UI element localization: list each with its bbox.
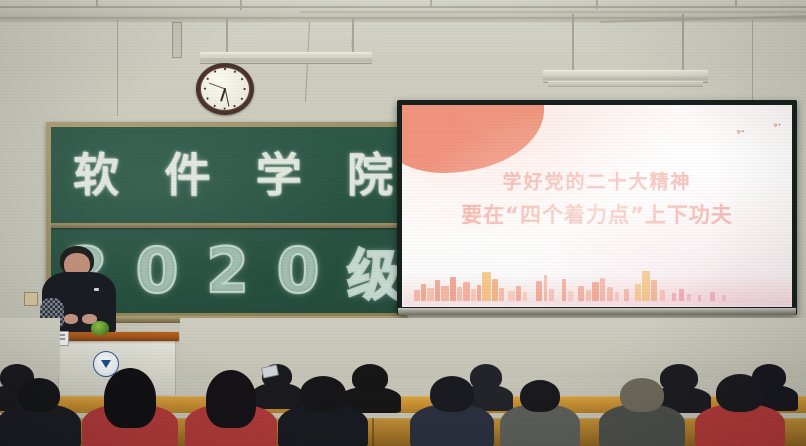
audience-head (104, 368, 156, 428)
clock-tick (244, 88, 246, 90)
audience-head (716, 374, 764, 412)
projector-screen-base-rail (398, 308, 796, 315)
skyline-building (592, 282, 599, 301)
audience-head (470, 364, 502, 390)
audience-head (206, 370, 256, 428)
skyline-building (536, 281, 542, 301)
skyline-building (463, 282, 470, 301)
skyline-building (482, 272, 491, 301)
clock-tick (207, 78, 209, 80)
ceiling-light-right-lower (548, 81, 703, 87)
projected-slide: ➳ ➳ 学好党的二十大精神 要在“四个着力点”上下功夫 (402, 105, 792, 307)
wall-seam-left (117, 20, 118, 116)
audience-head (660, 364, 698, 392)
clock-minute-hand (224, 89, 229, 107)
audience-head (300, 376, 346, 412)
skyline-building (508, 291, 515, 301)
clock-tick (224, 108, 226, 110)
ceiling-light-wire-right-2 (682, 14, 684, 71)
audience-head-with-cap (620, 378, 664, 412)
bird-icon: ➳ (735, 126, 746, 138)
bench-divider (372, 418, 374, 446)
ceiling-beam-vertical-3 (430, 0, 432, 8)
skyline-building (450, 277, 456, 301)
audience-head (430, 376, 474, 412)
ceiling-beam-vertical-5 (735, 0, 737, 8)
wall-power-socket (24, 292, 38, 306)
clock-tick (214, 71, 216, 73)
classroom-photo-scene: 软 件 学 院 2 0 2 0 级 ➳ ➳ 学好党的二十大精神 要在“四个着 (0, 0, 806, 446)
ceiling-beam-horizontal-1 (0, 6, 806, 8)
skyline-building (687, 294, 691, 301)
clock-tick (234, 105, 236, 107)
skyline-building (477, 285, 481, 301)
projector-screen: ➳ ➳ 学好党的二十大精神 要在“四个着力点”上下功夫 (397, 100, 797, 315)
skyline-building (549, 289, 554, 301)
clock-tick (207, 98, 209, 100)
slide-headline-line-2: 要在“四个着力点”上下功夫 (402, 199, 792, 229)
ceiling-light-wire-right (572, 14, 574, 71)
skyline-building (635, 284, 641, 301)
skyline-building (578, 286, 584, 301)
skyline-building (568, 291, 573, 301)
skyline-building (562, 279, 566, 301)
wall-vent-plate (172, 22, 182, 58)
chalk-char: 院 (347, 139, 393, 205)
skyline-building (492, 279, 498, 301)
ceiling-beam-vertical-4 (596, 0, 598, 9)
skyline-building (624, 289, 629, 301)
skyline-building (435, 280, 440, 301)
slide-skyline-graphic (402, 261, 792, 307)
chalk-char: 学 (256, 139, 302, 205)
skyline-building (544, 275, 547, 301)
clock-tick (241, 98, 243, 100)
skyline-building (698, 295, 701, 301)
ceiling-light-wire-left (226, 18, 228, 52)
skyline-building (722, 295, 726, 301)
skyline-building (441, 286, 449, 301)
wall-clock (196, 63, 254, 115)
chalk-char: 2 (206, 234, 249, 307)
lectern-desktop (53, 332, 179, 341)
chalk-char: 0 (277, 234, 320, 307)
skyline-building (710, 292, 715, 301)
skyline-building (499, 288, 504, 301)
skyline-building (642, 271, 650, 301)
desk-plant-decor (91, 321, 109, 335)
clock-tick (204, 88, 206, 90)
bird-icon: ➳ (772, 120, 782, 131)
audience-head (18, 378, 60, 412)
skyline-building (660, 290, 665, 301)
chalk-char: 级 (347, 231, 401, 310)
clock-face (200, 67, 250, 111)
skyline-building (471, 289, 476, 301)
skyline-building (672, 293, 676, 301)
skyline-building (600, 278, 605, 301)
skyline-building (679, 289, 684, 301)
clock-tick (241, 78, 243, 80)
skyline-building (586, 290, 591, 301)
skyline-building (457, 287, 462, 301)
clock-tick (234, 71, 236, 73)
skyline-building (414, 290, 420, 301)
skyline-building (421, 284, 426, 301)
chalk-char: 件 (164, 139, 210, 205)
clock-second-hand (209, 83, 225, 90)
skyline-building (523, 292, 527, 301)
ceiling-beam-vertical-1 (96, 0, 98, 8)
skyline-building (427, 288, 434, 301)
audience-head (520, 380, 560, 412)
skyline-building (615, 292, 619, 301)
clock-tick (214, 105, 216, 107)
skyline-building (607, 287, 613, 301)
clock-tick (224, 68, 226, 70)
skyline-building (651, 280, 657, 301)
audience-head (352, 364, 388, 392)
presenter-hand-left (64, 314, 78, 324)
ceiling-beam-vertical-2 (240, 0, 242, 10)
skyline-building (516, 286, 521, 301)
presenter-badge-icon (94, 288, 99, 291)
ceiling-beam-horizontal-3 (300, 11, 806, 13)
slide-headline-line-1: 学好党的二十大精神 (402, 167, 792, 194)
ceiling-light-wire-left-2 (352, 18, 354, 52)
audience-area (0, 360, 806, 446)
blackboard-line-1: 软 件 学 院 (73, 135, 393, 209)
blackboard-divider-rail (51, 223, 401, 228)
chalk-char: 软 (73, 139, 119, 205)
